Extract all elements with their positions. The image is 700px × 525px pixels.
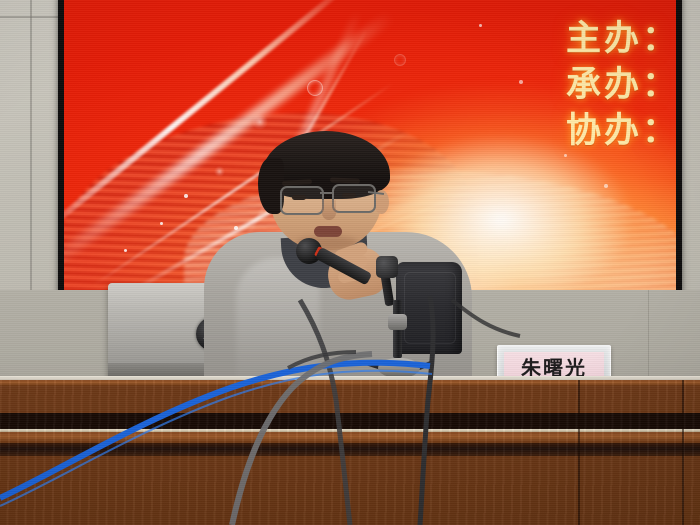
nose xyxy=(322,200,336,220)
eye-right xyxy=(342,193,356,198)
screen-credits-text: 主办： 承办： 协办： xyxy=(566,16,676,154)
mic-stand-clip[interactable] xyxy=(376,256,398,278)
bokeh-particle xyxy=(394,54,406,66)
mic-stand-adjust-knob[interactable] xyxy=(388,314,407,330)
sparkle xyxy=(519,80,523,84)
conference-photo: 主办： 承办： 协办： hp xyxy=(0,0,700,525)
mic-stand-base xyxy=(378,358,420,378)
glasses-lens-right xyxy=(332,184,376,213)
sparkle xyxy=(564,154,567,157)
speaker-name-text: 朱曙光 xyxy=(521,358,587,378)
podium-trim-mid xyxy=(0,432,700,443)
bokeh-particle xyxy=(307,80,323,96)
wall-seam-top xyxy=(0,16,60,18)
podium-panel-seam xyxy=(578,380,580,525)
co-organizer-line: 承办： xyxy=(566,62,676,108)
chair-stitching xyxy=(404,272,456,344)
glasses-bridge xyxy=(320,192,332,194)
bokeh-particle xyxy=(252,114,268,130)
podium-panel-seam xyxy=(682,380,684,525)
podium-trim-top xyxy=(0,380,700,386)
sparkle xyxy=(184,194,188,198)
sparkle xyxy=(124,249,127,252)
eye-left xyxy=(292,195,306,200)
podium-desk xyxy=(0,380,700,525)
organizer-line: 主办： xyxy=(566,16,676,62)
glasses-lens-left xyxy=(280,186,324,215)
podium-moulding xyxy=(0,443,700,456)
sparkle xyxy=(160,222,163,225)
supporting-organizer-line: 协办： xyxy=(566,108,676,154)
sparkle xyxy=(479,24,482,27)
sparkle xyxy=(604,184,608,188)
podium-shadow-band xyxy=(0,413,700,429)
